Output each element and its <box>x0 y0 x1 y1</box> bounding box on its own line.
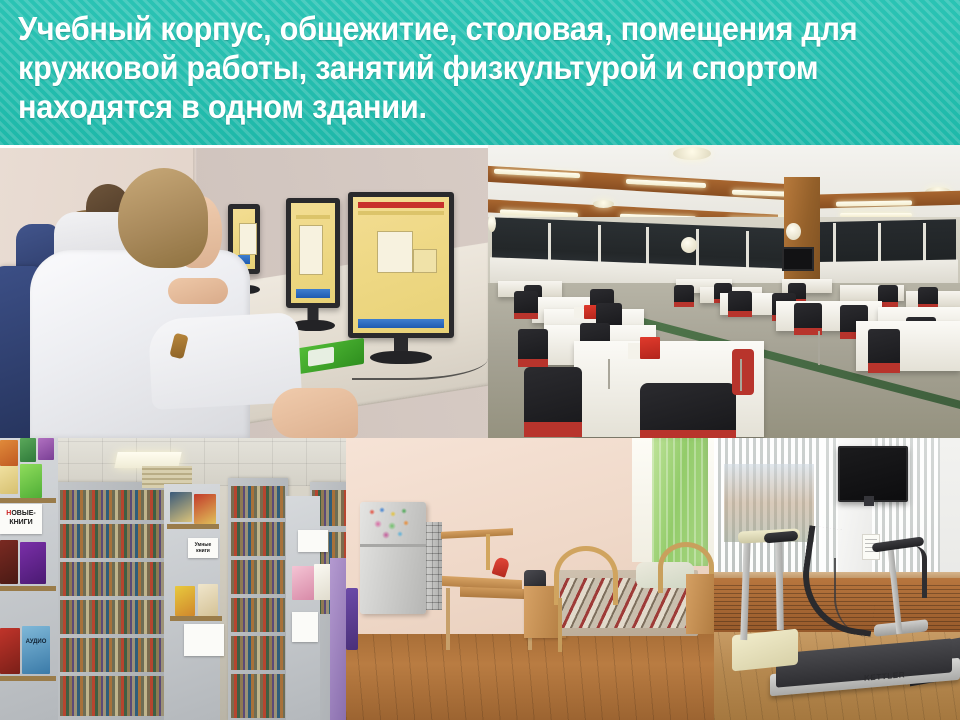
sign-new-books-rest: ОВЫЕ- <box>11 510 35 517</box>
dorm-bed-leg <box>558 598 562 652</box>
screen-toolbar <box>296 215 330 219</box>
display-ledge <box>0 498 56 503</box>
display-book-cover <box>292 566 314 600</box>
sign-line-1: Умные <box>195 542 212 548</box>
table-leg <box>818 331 820 365</box>
globe-lamp <box>681 237 697 253</box>
photo-canteen <box>488 145 960 438</box>
sign-line-2: книги <box>196 548 210 554</box>
screen-window <box>377 231 413 273</box>
display-ledge <box>167 524 219 529</box>
display-book-cover <box>194 494 216 524</box>
display-book-cover <box>20 542 46 584</box>
display-book-cover <box>38 438 54 460</box>
chair-front-left <box>524 367 582 437</box>
photo-dormitory <box>346 438 714 720</box>
monitor-screen <box>348 192 454 338</box>
sign-right-lower <box>292 612 318 642</box>
screen-window <box>239 223 257 255</box>
machine-post <box>888 548 903 634</box>
page-title: Учебный корпус, общежитие, столовая, пом… <box>18 10 883 127</box>
machine-hook <box>914 546 927 598</box>
books-row <box>231 522 285 556</box>
shelf-edge-violet <box>330 558 346 720</box>
chair <box>868 329 900 373</box>
screen-taskbar <box>358 319 444 328</box>
photo-library: Умные книги НОВЫЕ- КНИГИ АУДИО <box>0 438 346 720</box>
screen-window-small <box>413 249 437 273</box>
label-audio: АУДИО <box>24 638 48 648</box>
chair <box>728 291 752 317</box>
display-book-cover <box>0 466 18 494</box>
photo-fitness-room: KETTLER <box>714 438 960 720</box>
screen-titlebar-red <box>358 202 444 208</box>
display-book-cover <box>0 440 18 466</box>
napkins <box>574 307 583 318</box>
canteen-tv <box>782 247 814 271</box>
sign-new-books-line2: КНИГИ <box>9 519 32 526</box>
chair <box>674 285 694 307</box>
sign-right-upper <box>298 530 328 552</box>
books-row <box>231 486 285 518</box>
sign-quote <box>184 624 224 656</box>
chair-front-center <box>640 383 736 438</box>
dorm-refrigerator <box>360 502 426 614</box>
sign-new-books: НОВЫЕ- КНИГИ <box>0 504 42 534</box>
display-book-cover <box>175 586 195 616</box>
books-row <box>60 490 164 520</box>
table-leg <box>608 359 610 389</box>
chair <box>918 287 938 309</box>
ceiling-dome-light <box>593 200 614 208</box>
books-row <box>231 636 285 670</box>
screen-toolbar <box>358 211 444 215</box>
monitor-middle <box>286 198 340 308</box>
globe-lamp <box>786 223 801 240</box>
books-row <box>60 562 164 596</box>
dorm-yoga-mat <box>346 588 358 650</box>
header-banner: Учебный корпус, общежитие, столовая, пом… <box>0 0 960 145</box>
books-row <box>60 638 164 672</box>
display-book-cover <box>170 492 192 522</box>
slide-root: Учебный корпус, общежитие, столовая, пом… <box>0 0 960 720</box>
screen-window <box>299 225 323 275</box>
display-book-cover <box>20 438 36 462</box>
fridge-magnets <box>366 506 420 540</box>
napkin-holder <box>640 337 660 359</box>
monitor-screen <box>286 198 340 308</box>
display-book-cover <box>0 628 20 674</box>
dorm-lamp-arm <box>486 534 490 570</box>
lab-boy-hand-far <box>168 278 228 304</box>
dorm-side-table <box>686 574 714 634</box>
books-row <box>231 674 285 718</box>
display-ledge <box>170 616 222 621</box>
display-book-cover <box>198 584 218 616</box>
lab-boy-hair <box>118 168 208 268</box>
tv-mount-arm <box>864 496 874 506</box>
ceiling-dome-light <box>673 147 711 160</box>
display-ledge <box>0 586 56 591</box>
dorm-wire-rack <box>426 522 442 610</box>
table-leg <box>740 359 742 391</box>
books-row <box>60 600 164 634</box>
screen-taskbar <box>296 289 330 298</box>
books-row <box>60 676 164 716</box>
sign-smart-books: Умные книги <box>188 538 218 558</box>
display-ledge <box>0 676 56 681</box>
books-row <box>60 524 164 558</box>
photo-computer-lab <box>0 148 488 438</box>
fridge-door-split <box>360 544 426 547</box>
chair-front-right <box>732 349 754 395</box>
dorm-bed-headboard <box>554 546 618 605</box>
chair <box>514 291 538 319</box>
chair <box>518 329 548 367</box>
display-book-cover <box>20 464 42 498</box>
display-book-audio <box>22 626 50 674</box>
display-book-cover <box>0 540 18 584</box>
books-row <box>231 598 285 632</box>
napkins <box>628 343 640 359</box>
books-row <box>231 560 285 594</box>
wall-mounted-tv <box>838 446 908 502</box>
monitor-near <box>348 192 454 338</box>
lab-boy-hand-near <box>272 388 358 438</box>
globe-lamp <box>488 215 496 232</box>
